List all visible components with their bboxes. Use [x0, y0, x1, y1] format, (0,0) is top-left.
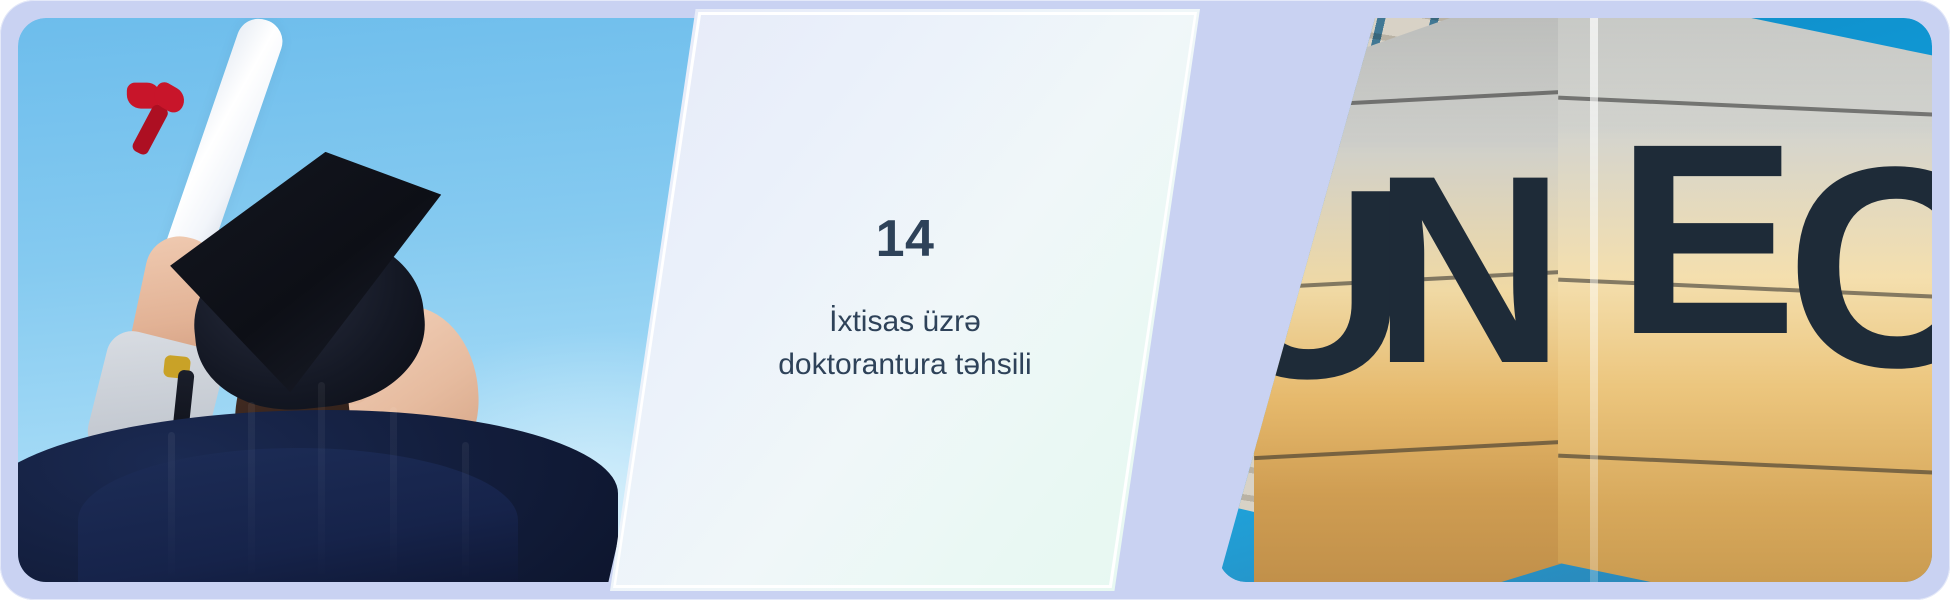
university-building-panel: U N E C — [1218, 18, 1932, 582]
stat-label-line-1: İxtisas üzrə — [829, 305, 981, 338]
facade-seam — [1254, 440, 1564, 460]
ribbon-tail — [130, 103, 169, 157]
stat-content: 14 İxtisas üzrə doktorantura təhsili — [610, 9, 1200, 591]
statistic-highlight-card: 14 İxtisas üzrə doktorantura təhsili U N — [0, 0, 1950, 600]
facade-seam — [1254, 90, 1564, 110]
stat-label: İxtisas üzrə doktorantura təhsili — [778, 301, 1031, 386]
facade-letter-e: E — [1616, 128, 1795, 351]
diploma-ribbon-icon — [116, 73, 193, 150]
gown-fold — [318, 382, 325, 582]
card-stage: 14 İxtisas üzrə doktorantura təhsili U N — [0, 0, 1950, 600]
facade-left-face: U N — [1254, 18, 1564, 582]
facade-seam — [1558, 454, 1932, 479]
stat-value: 14 — [876, 213, 935, 265]
facade-corner-edge — [1590, 18, 1598, 582]
gown-fold — [462, 442, 469, 582]
gown-fold — [168, 432, 175, 582]
gown-yoke — [78, 448, 518, 582]
facade-letter-c: C — [1786, 150, 1932, 385]
gown-fold — [390, 407, 397, 582]
building-facade: U N E C — [1254, 18, 1932, 582]
stat-label-line-2: doktorantura təhsili — [778, 348, 1031, 381]
gown-fold — [248, 402, 255, 582]
facade-letter-n: N — [1372, 160, 1564, 380]
facade-right-face: E C — [1558, 18, 1932, 582]
